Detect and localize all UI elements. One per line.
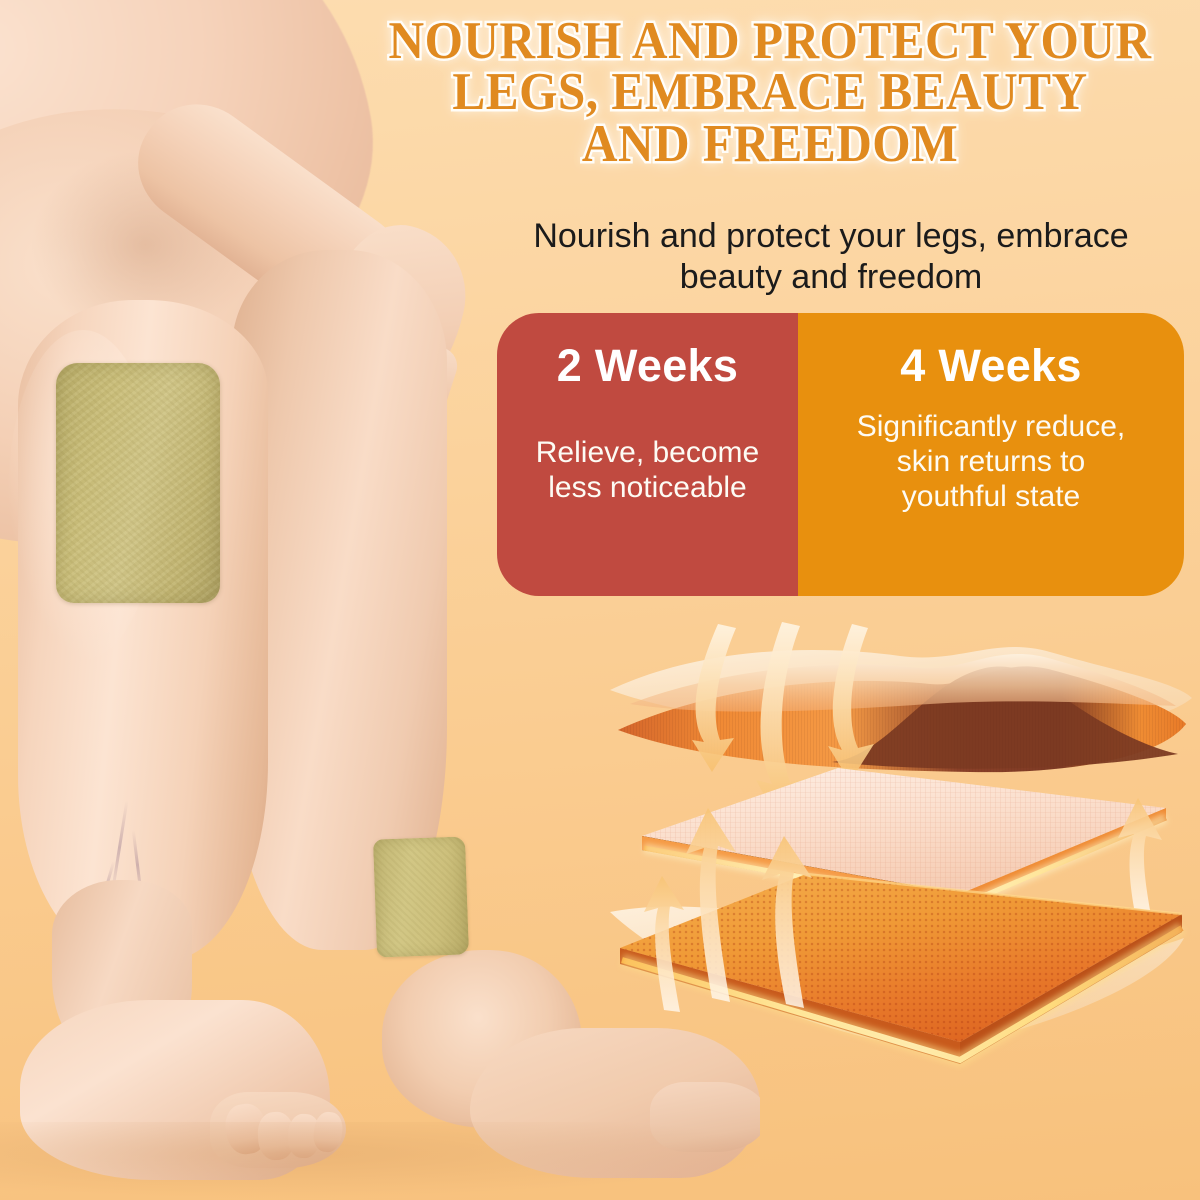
panel-4-weeks: 4 Weeks Significantly reduce, skin retur… (798, 313, 1184, 596)
subtitle: Nourish and protect your legs, embrace b… (466, 216, 1196, 299)
panel-2-weeks: 2 Weeks Relieve, become less noticeable (497, 313, 798, 596)
timeline-comparison-card: 2 Weeks Relieve, become less noticeable … (497, 313, 1184, 596)
calf-patch (56, 363, 220, 603)
floor-shadow (0, 1122, 760, 1200)
page-title: NOURISH AND PROTECT YOUR LEGS, EMBRACE B… (370, 16, 1170, 170)
panel-4-weeks-body: Significantly reduce, skin returns to yo… (857, 410, 1125, 514)
ankle-patch (373, 836, 469, 957)
product-ad-banner: NOURISH AND PROTECT YOUR LEGS, EMBRACE B… (0, 0, 1200, 1200)
patch-layers-diagram (600, 612, 1200, 1112)
panel-2-weeks-body: Relieve, become less noticeable (536, 436, 759, 506)
herbal-essence-layer (610, 874, 1184, 1064)
panel-4-weeks-title: 4 Weeks (900, 343, 1081, 388)
panel-2-weeks-title: 2 Weeks (557, 343, 738, 388)
